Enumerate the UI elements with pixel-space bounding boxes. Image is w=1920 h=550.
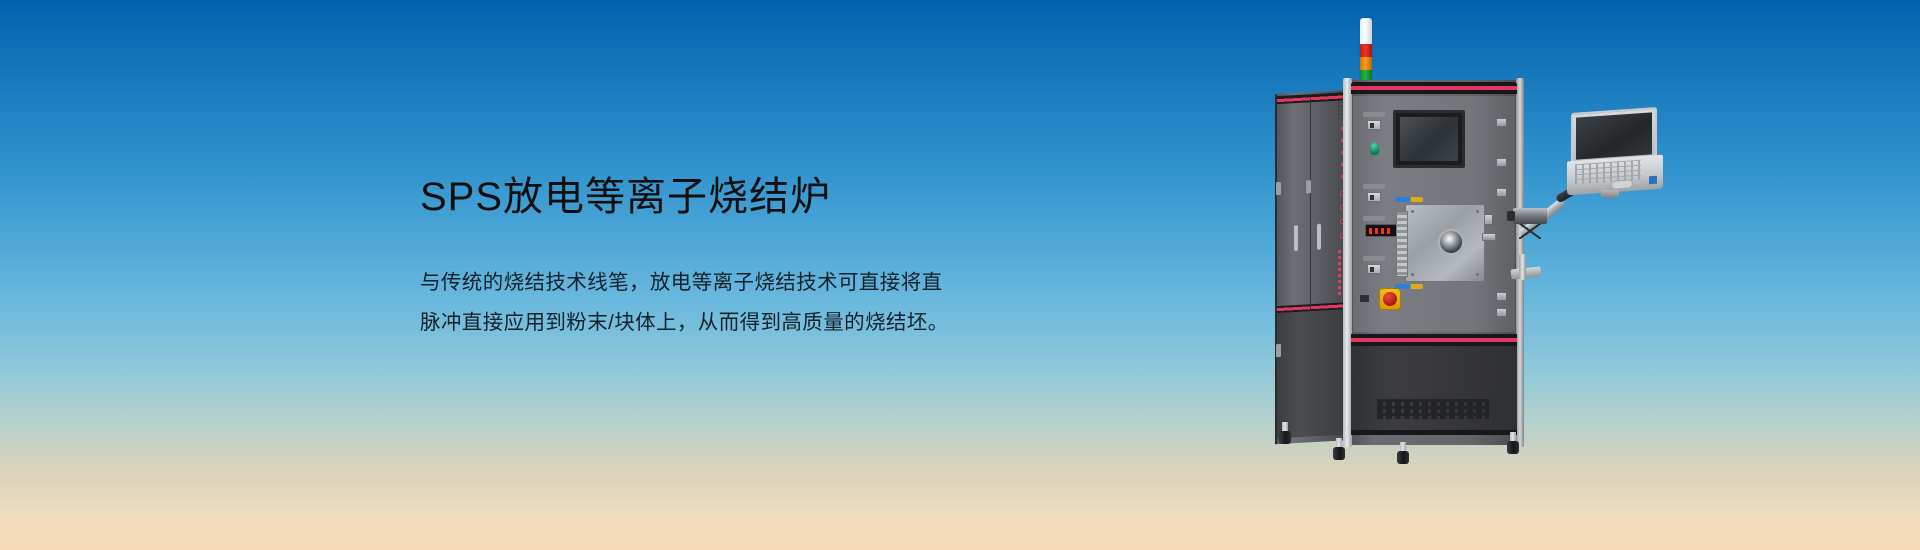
description-line-2: 脉冲直接应用到粉末/块体上，从而得到高质量的烧结坯。 (420, 303, 1040, 343)
cabinet-accent-rail-middle (1351, 334, 1517, 346)
panel-button (1496, 188, 1507, 197)
selector-knob (1370, 142, 1379, 155)
panel-button (1496, 118, 1507, 127)
cabinet-accent-rail-top (1351, 82, 1517, 94)
floor-caster (1507, 432, 1519, 454)
banner-description: 与传统的烧结技术线笔，放电等离子烧结技术可直接将直 脉冲直接应用到粉末/块体上，… (420, 263, 1040, 343)
panel-button (1496, 292, 1507, 301)
cabinet-hinge (1306, 180, 1311, 193)
stack-light-red-icon (1360, 44, 1372, 57)
monitor-arm-clamp (1511, 266, 1542, 279)
chamber-latch-handle (1482, 233, 1496, 241)
vacuum-chamber-door (1405, 204, 1485, 282)
cabinet-hinge (1276, 344, 1281, 357)
stack-light-amber-icon (1360, 57, 1372, 70)
coolant-pipe-bottom (1395, 284, 1423, 289)
control-panel (1353, 96, 1515, 332)
cabinet-lower-panel (1277, 309, 1351, 438)
monitor-arm-post (1519, 254, 1526, 280)
panel-button (1496, 308, 1507, 317)
chamber-hinge-ribs (1396, 211, 1408, 277)
caster-wheel (1279, 431, 1291, 444)
caster-wheel (1397, 451, 1409, 464)
power-switch (1367, 120, 1381, 130)
chamber-bolt (1411, 273, 1414, 276)
laptop-vesa-mount (1601, 190, 1619, 198)
laptop-trackpad (1611, 179, 1633, 190)
panel-label (1363, 112, 1385, 117)
floor-caster (1279, 422, 1291, 444)
page-title: SPS放电等离子烧结炉 (420, 175, 1040, 219)
cabinet-hinge (1276, 182, 1281, 195)
caster-wheel (1333, 447, 1345, 460)
control-switch (1367, 192, 1381, 202)
emergency-stop-button (1379, 288, 1401, 310)
panel-label (1363, 184, 1385, 189)
chamber-bolt (1476, 210, 1479, 213)
laptop-screen (1576, 112, 1652, 159)
viewport-window-icon (1438, 229, 1464, 255)
touchscreen-hmi-display (1393, 110, 1465, 168)
description-line-1: 与传统的烧结技术线笔，放电等离子烧结技术可直接将直 (420, 263, 1040, 303)
product-image-sps-furnace (1275, 18, 1665, 488)
digital-readout-display (1365, 224, 1397, 237)
side-control-cabinet (1275, 90, 1351, 444)
main-furnace-cabinet (1349, 80, 1519, 445)
cabinet-door-handle (1294, 225, 1298, 251)
process-camera-icon (1513, 208, 1547, 224)
control-laptop (1567, 110, 1663, 196)
chamber-bolt (1476, 273, 1479, 276)
panel-button (1359, 294, 1370, 303)
hero-banner: SPS放电等离子烧结炉 与传统的烧结技术线笔，放电等离子烧结技术可直接将直 脉冲… (0, 0, 1920, 550)
floor-caster (1397, 442, 1409, 464)
control-switch (1367, 264, 1381, 274)
cabinet-door-handle (1317, 224, 1321, 250)
banner-text-block: SPS放电等离子烧结炉 与传统的烧结技术线笔，放电等离子烧结技术可直接将直 脉冲… (420, 175, 1040, 343)
camera-mount (1519, 223, 1541, 239)
panel-button (1496, 158, 1507, 167)
chamber-bolt (1411, 210, 1414, 213)
bottom-vent-grille (1377, 399, 1489, 419)
caster-wheel (1507, 441, 1519, 454)
coolant-pipe-top (1395, 197, 1423, 202)
floor-caster (1333, 438, 1345, 460)
panel-label (1363, 256, 1385, 261)
laptop-badge (1649, 176, 1657, 185)
panel-label (1363, 216, 1385, 221)
